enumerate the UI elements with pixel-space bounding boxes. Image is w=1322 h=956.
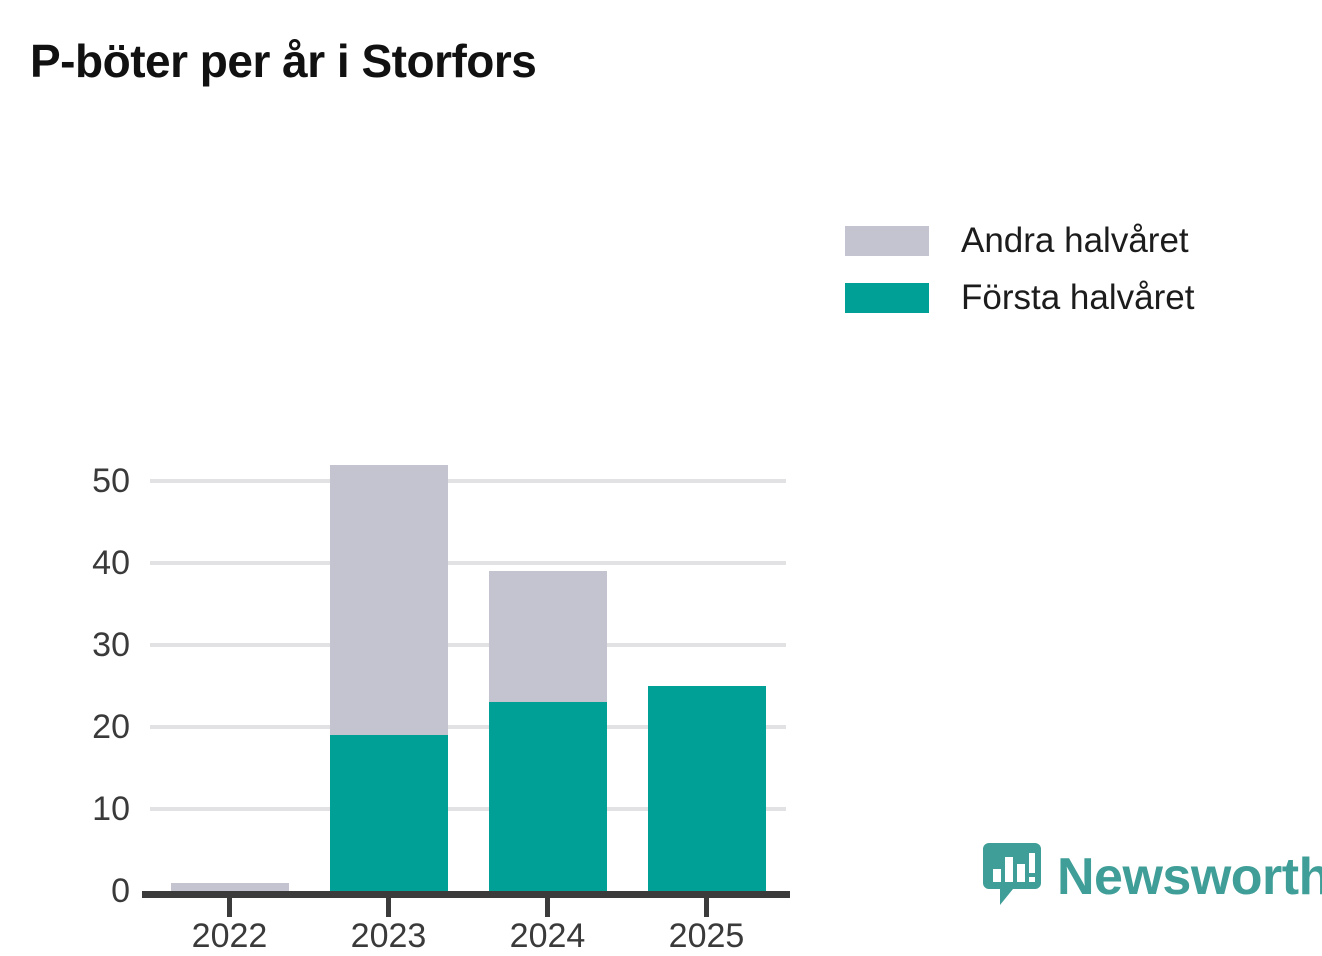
x-tick-label-2022: 2022 <box>150 917 310 956</box>
x-tick-mark-2024 <box>545 898 550 917</box>
bar-2023-forsta-halvaret[interactable] <box>330 735 448 891</box>
legend-swatch-forsta-halvaret <box>845 283 929 313</box>
y-tick-label-0: 0 <box>111 874 130 908</box>
newsworthy-logo[interactable]: Newsworthy <box>983 843 1322 910</box>
y-tick-label-30: 30 <box>92 628 130 662</box>
newsworthy-wordmark: Newsworthy <box>1057 851 1322 903</box>
bar-2023-andra-halvaret[interactable] <box>330 465 448 736</box>
bar-2024-andra-halvaret[interactable] <box>489 571 607 702</box>
bar-chart-bubble-icon <box>983 843 1041 910</box>
x-tick-mark-2025 <box>704 898 709 917</box>
y-tick-label-10: 10 <box>92 792 130 826</box>
bar-2025-forsta-halvaret[interactable] <box>648 686 766 891</box>
legend-swatch-andra-halvaret <box>845 226 929 256</box>
plot-area: 2022202320242025 <box>150 225 786 667</box>
gridline-40 <box>150 561 786 565</box>
y-tick-label-20: 20 <box>92 710 130 744</box>
x-tick-label-2024: 2024 <box>468 917 628 956</box>
y-tick-label-50: 50 <box>92 464 130 498</box>
legend-label-andra-halvaret: Andra halvåret <box>961 221 1189 261</box>
gridline-30 <box>150 643 786 647</box>
y-tick-label-40: 40 <box>92 546 130 580</box>
bar-2024-forsta-halvaret[interactable] <box>489 702 607 891</box>
legend: Andra halvåret Första halvåret <box>845 212 1194 326</box>
legend-item-forsta-halvaret[interactable]: Första halvåret <box>845 269 1194 326</box>
y-axis: 50 40 30 20 10 0 <box>0 0 130 700</box>
legend-label-forsta-halvaret: Första halvåret <box>961 278 1194 318</box>
x-tick-mark-2022 <box>227 898 232 917</box>
x-axis-line <box>142 891 790 898</box>
gridline-50 <box>150 479 786 483</box>
x-tick-label-2025: 2025 <box>627 917 787 956</box>
bar-2022-andra-halvaret[interactable] <box>171 883 289 891</box>
x-tick-mark-2023 <box>386 898 391 917</box>
legend-item-andra-halvaret[interactable]: Andra halvåret <box>845 212 1194 269</box>
x-tick-label-2023: 2023 <box>309 917 469 956</box>
